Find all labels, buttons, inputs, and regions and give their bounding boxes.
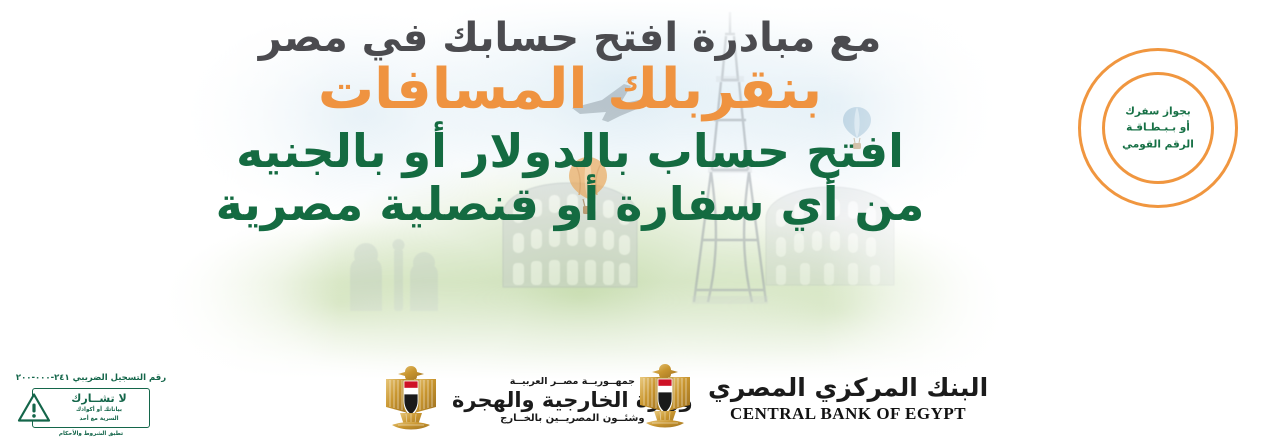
eagle-of-saladin-icon bbox=[634, 361, 696, 435]
cbe-wordmark: البنك المركزي المصري CENTRAL BANK OF EGY… bbox=[708, 373, 988, 424]
badge-line-1: بجواز سفرك bbox=[1108, 104, 1208, 120]
warning-subtitle-2: السرية مع أحد bbox=[55, 416, 143, 423]
badge-line-2: أو بـبـطـاقـة bbox=[1108, 120, 1208, 136]
tax-and-warning-block: رقم التسجيل الضريبي ٢٤١-٠٠٠-٢٠٠ لا تشــا… bbox=[6, 373, 176, 437]
headline-line-3: افتح حساب بالدولار أو بالجنيه bbox=[160, 124, 980, 179]
headline-line-4: من أي سفارة أو قنصلية مصرية bbox=[160, 177, 980, 232]
central-bank-of-egypt-logo: البنك المركزي المصري CENTRAL BANK OF EGY… bbox=[634, 361, 988, 435]
headline-line-1: مع مبادرة افتح حسابك في مصر bbox=[160, 16, 980, 61]
logo-strip: جمهــوريــة مصــر العربيــة وزارة الخارج… bbox=[0, 343, 1280, 443]
cbe-arabic-name: البنك المركزي المصري bbox=[708, 373, 988, 402]
badge-text: بجواز سفرك أو بـبـطـاقـة الرقم القومي bbox=[1078, 104, 1238, 153]
eagle-of-saladin-icon bbox=[380, 363, 442, 437]
security-warning-box: لا تشــارك بياناتك أو أكوادك السرية مع أ… bbox=[32, 388, 150, 428]
tax-registration-number: رقم التسجيل الضريبي ٢٤١-٠٠٠-٢٠٠ bbox=[6, 373, 176, 383]
warning-title: لا تشــارك bbox=[55, 393, 143, 405]
promo-banner: مع مبادرة افتح حسابك في مصر بنقربلك المس… bbox=[0, 0, 1280, 445]
warning-subtitle-1: بياناتك أو أكوادك bbox=[55, 407, 143, 414]
headline-block: مع مبادرة افتح حسابك في مصر بنقربلك المس… bbox=[160, 16, 980, 232]
warning-triangle-icon bbox=[17, 392, 51, 423]
terms-and-conditions-note: تطبق الشروط والأحكام bbox=[6, 431, 176, 437]
requirements-stamp-badge: بجواز سفرك أو بـبـطـاقـة الرقم القومي bbox=[1078, 48, 1238, 208]
cbe-english-name: CENTRAL BANK OF EGYPT bbox=[708, 404, 988, 424]
headline-line-2-highlight: بنقربلك المسافات bbox=[160, 59, 980, 122]
badge-line-3: الرقم القومي bbox=[1108, 136, 1208, 152]
